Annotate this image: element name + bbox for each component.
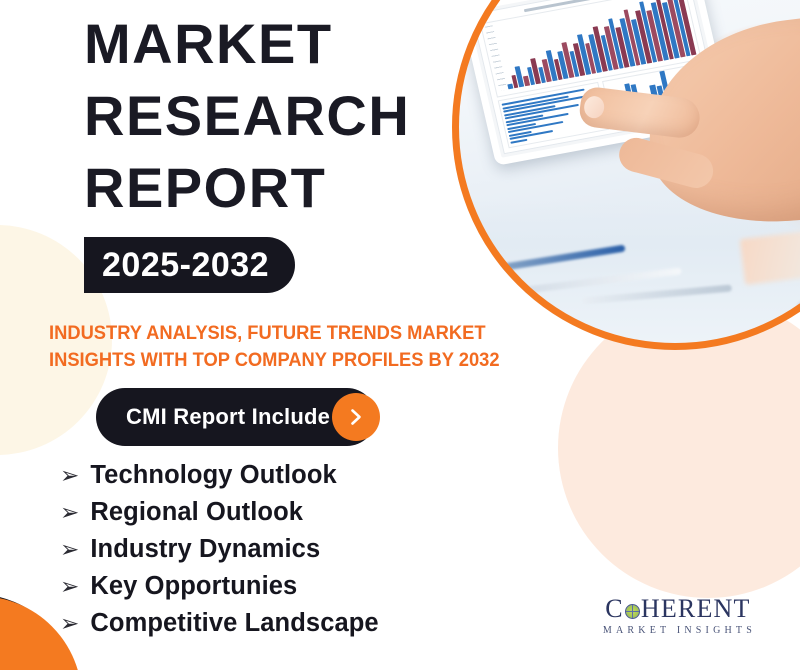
report-features-list: ➢ Technology Outlook ➢ Regional Outlook … [60,458,470,641]
list-item: ➢ Key Opportunies [60,569,470,604]
logo-wordmark: C HERENT [600,596,756,622]
chart-bar [507,83,513,89]
list-item: ➢ Competitive Landscape [60,606,470,641]
list-item-label: Competitive Landscape [90,606,378,641]
list-item-label: Regional Outlook [90,495,303,530]
chevron-right-icon[interactable] [332,393,380,441]
globe-icon [625,604,640,619]
headline-line-3: REPORT [84,152,464,224]
arrow-bullet-icon: ➢ [60,569,79,604]
cta-label: CMI Report Include [126,404,330,430]
pen-decoration [582,284,732,304]
year-range-label: 2025-2032 [102,246,269,285]
content-column: MARKET RESEARCH REPORT 2025-2032 INDUSTR… [0,0,470,670]
paper-decoration [740,221,800,285]
list-item-label: Key Opportunies [90,569,297,604]
pen-decoration [466,245,625,277]
page-title: MARKET RESEARCH REPORT [84,8,464,224]
subtitle-line-2: INSIGHTS WITH TOP COMPANY PROFILES BY 20… [49,347,491,374]
thumb [615,134,717,192]
subtitle-line-1: INDUSTRY ANALYSIS, FUTURE TRENDS MARKET [49,320,491,347]
fingernail [583,95,606,119]
list-item: ➢ Regional Outlook [60,495,470,530]
cmi-report-include-button[interactable]: CMI Report Include [96,388,376,446]
list-item-label: Technology Outlook [90,458,336,493]
subtitle: INDUSTRY ANALYSIS, FUTURE TRENDS MARKET … [49,320,491,374]
photo-background [452,0,800,350]
headline-line-1: MARKET [84,8,464,80]
list-item: ➢ Industry Dynamics [60,532,470,567]
market-research-report-poster: MARKET RESEARCH REPORT 2025-2032 INDUSTR… [0,0,800,670]
logo-tagline: MARKET INSIGHTS [600,625,756,636]
year-range-badge: 2025-2032 [84,237,295,293]
headline-line-2: RESEARCH [84,80,464,152]
coherent-market-insights-logo: C HERENT MARKET INSIGHTS [600,596,756,636]
list-item: ➢ Technology Outlook [60,458,470,493]
hero-photo [452,0,800,350]
logo-word-before: C [605,596,624,622]
list-item-label: Industry Dynamics [90,532,320,567]
arrow-bullet-icon: ➢ [60,532,79,567]
arrow-bullet-icon: ➢ [60,458,79,493]
arrow-bullet-icon: ➢ [60,495,79,530]
desk-surface [452,200,800,350]
arrow-bullet-icon: ➢ [60,606,79,641]
logo-word-after: HERENT [641,596,751,622]
